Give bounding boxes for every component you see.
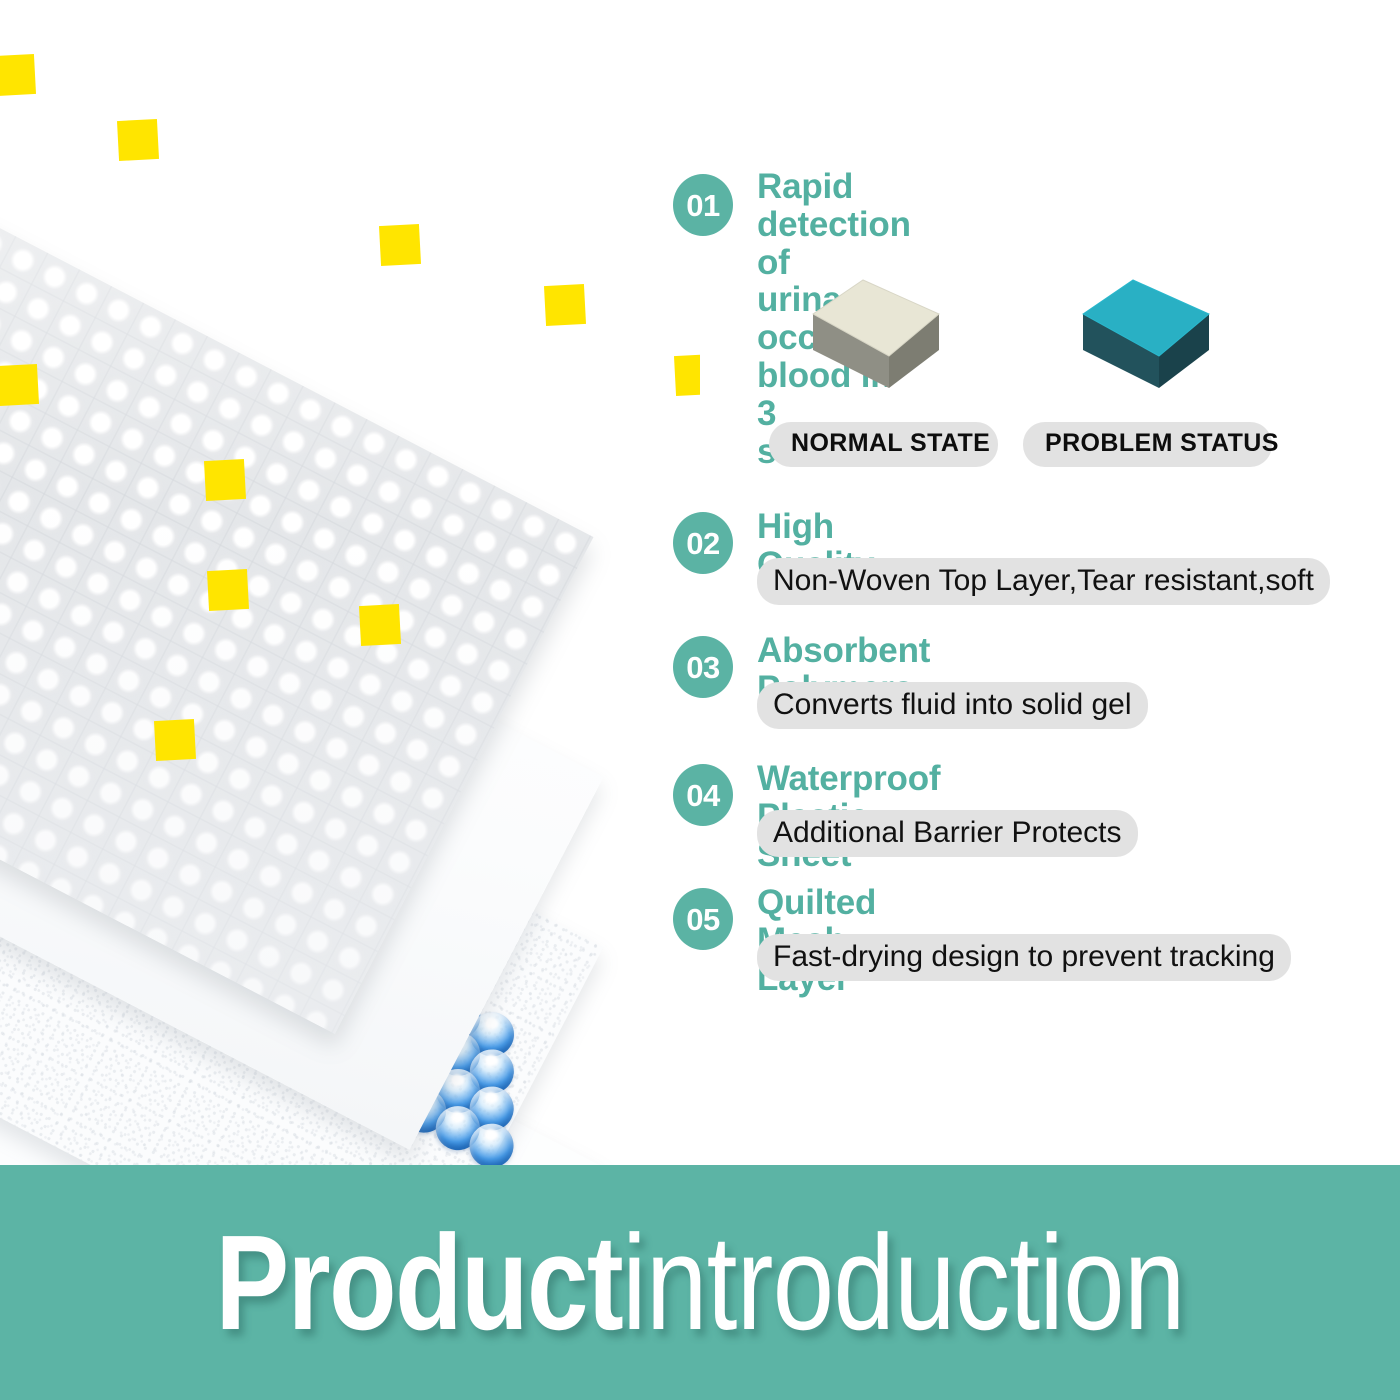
bottom-banner: Productintroduction: [0, 1165, 1400, 1400]
banner-title-strong: Product: [215, 1207, 622, 1358]
yellow-marker-square: [0, 364, 39, 406]
problem-state-label: PROBLEM STATUS: [1023, 422, 1272, 467]
banner-title-light: introduction: [622, 1207, 1184, 1358]
problem-state-cube: [1071, 272, 1221, 397]
feature-number-badge: 04: [673, 764, 733, 826]
feature-subtitle: Additional Barrier Protects: [757, 810, 1138, 857]
yellow-marker-square: [207, 569, 249, 611]
yellow-marker-square: [117, 119, 159, 161]
normal-state-cube: [801, 272, 951, 397]
yellow-marker-square: [359, 604, 401, 646]
yellow-marker-square: [204, 459, 246, 501]
normal-state-label: NORMAL STATE: [769, 422, 998, 467]
feature-number-badge: 05: [673, 888, 733, 950]
feature-number-badge: 02: [673, 512, 733, 574]
yellow-marker-square: [379, 224, 421, 266]
feature-subtitle: Non-Woven Top Layer,Tear resistant,soft: [757, 558, 1330, 605]
banner-title: Productintroduction: [215, 1215, 1184, 1350]
feature-list: 01 Rapid detection of urinary occult blo…: [665, 0, 1400, 1165]
detection-state-group: NORMAL STATE PROBLEM STATUS: [665, 272, 1285, 472]
product-layer-illustration: [0, 0, 700, 1190]
yellow-marker-square: [544, 284, 586, 326]
feature-subtitle: Fast-drying design to prevent tracking: [757, 934, 1291, 981]
feature-subtitle: Converts fluid into solid gel: [757, 682, 1148, 729]
yellow-marker-square: [154, 719, 196, 761]
feature-number-badge: 03: [673, 636, 733, 698]
yellow-marker-square: [0, 54, 36, 96]
infographic-canvas: 01 Rapid detection of urinary occult blo…: [0, 0, 1400, 1400]
feature-number-badge: 01: [673, 174, 733, 236]
